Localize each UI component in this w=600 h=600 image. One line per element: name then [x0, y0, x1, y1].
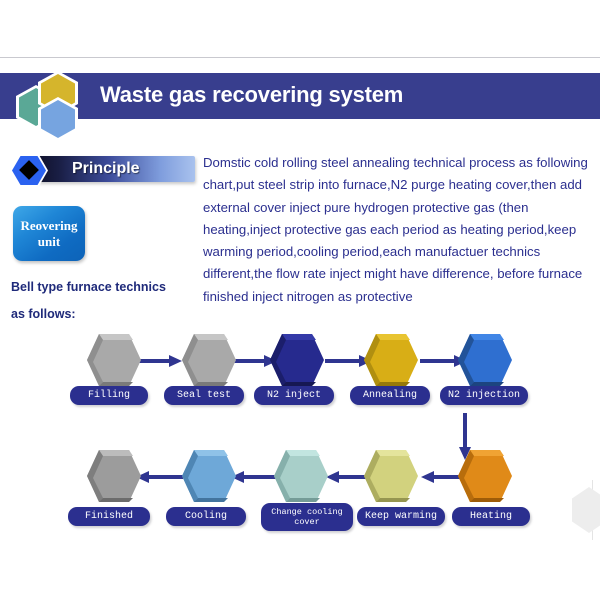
hexagon-icon-n2-injection	[456, 332, 514, 388]
recovering-unit-line1: Reovering	[20, 218, 77, 234]
right-edge-rule	[596, 58, 598, 548]
hexagon-icon-change-cooling-cover	[272, 448, 330, 504]
left-edge-rule	[0, 58, 2, 548]
bell-caption-line1: Bell type furnace technics	[11, 274, 201, 301]
hexagon-icon-annealing	[362, 332, 420, 388]
flow-label-annealing[interactable]: Annealing	[350, 386, 430, 405]
flow-label-filling[interactable]: Filling	[70, 386, 148, 405]
hexagon-icon-n2-inject	[268, 332, 326, 388]
recovering-unit-line2: unit	[38, 234, 60, 250]
flow-label-seal-test[interactable]: Seal test	[164, 386, 244, 405]
hexagon-icon-keep-warming	[362, 448, 420, 504]
flow-label-cooling[interactable]: Cooling	[166, 507, 246, 526]
flow-label-finished[interactable]: Finished	[68, 507, 150, 526]
hexagon-icon-cooling	[180, 448, 238, 504]
hexagon-icon-heating	[456, 448, 514, 504]
flow-label-n2-injection[interactable]: N2 injection	[440, 386, 528, 405]
hexagon-logo-cluster	[16, 71, 94, 133]
top-divider	[0, 57, 600, 58]
hexagon-icon-finished	[85, 448, 143, 504]
bell-caption-line2: as follows:	[11, 301, 201, 328]
flow-label-change-cooling-cover-line1: Change cooling	[271, 507, 342, 517]
flow-label-heating[interactable]: Heating	[452, 507, 530, 526]
slide-frame: Waste gas recovering system Principle Re…	[0, 0, 600, 600]
flow-label-keep-warming[interactable]: Keep warming	[357, 507, 445, 526]
flow-label-change-cooling-cover[interactable]: Change cooling cover	[261, 503, 353, 531]
principle-label: Principle	[72, 160, 140, 178]
hexagon-icon-seal-test	[180, 332, 238, 388]
hexagon-icon-filling	[85, 332, 143, 388]
principle-badge[interactable]: Principle	[10, 154, 195, 184]
bell-furnace-caption: Bell type furnace technics as follows:	[11, 274, 201, 328]
decorative-hexagon-icon	[572, 487, 600, 533]
recovering-unit-box[interactable]: Reovering unit	[13, 206, 85, 261]
page-title: Waste gas recovering system	[100, 82, 570, 108]
flow-label-change-cooling-cover-line2: cover	[294, 517, 320, 527]
flow-label-n2-inject[interactable]: N2 inject	[254, 386, 334, 405]
body-paragraph: Domstic cold rolling steel annealing tec…	[203, 152, 593, 308]
